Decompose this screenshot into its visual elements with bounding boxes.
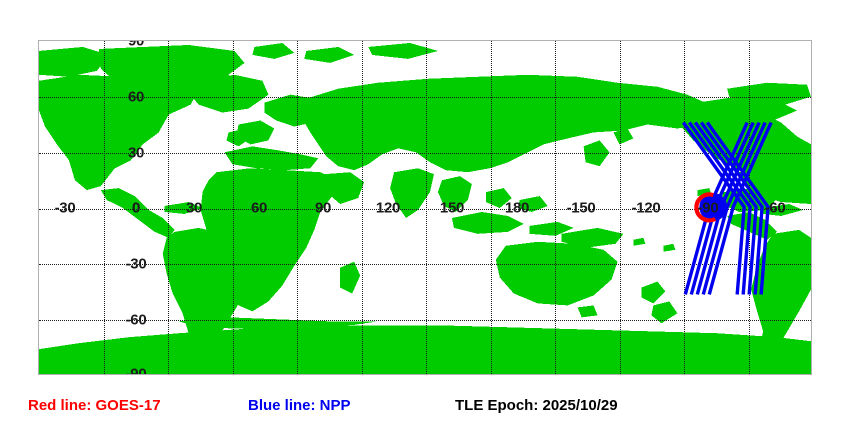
legend-red-line-goes17: Red line: GOES-17	[28, 396, 161, 416]
legend-blue-line-npp: Blue line: NPP	[248, 396, 351, 416]
land-layer	[39, 41, 811, 374]
legend-bar: Red line: GOES-17 Blue line: NPP TLE Epo…	[0, 396, 850, 420]
world-map: -30 0 30 60 90 120 150 180 -150 -120 -90…	[38, 40, 812, 375]
legend-tle-epoch: TLE Epoch: 2025/10/29	[455, 396, 618, 416]
